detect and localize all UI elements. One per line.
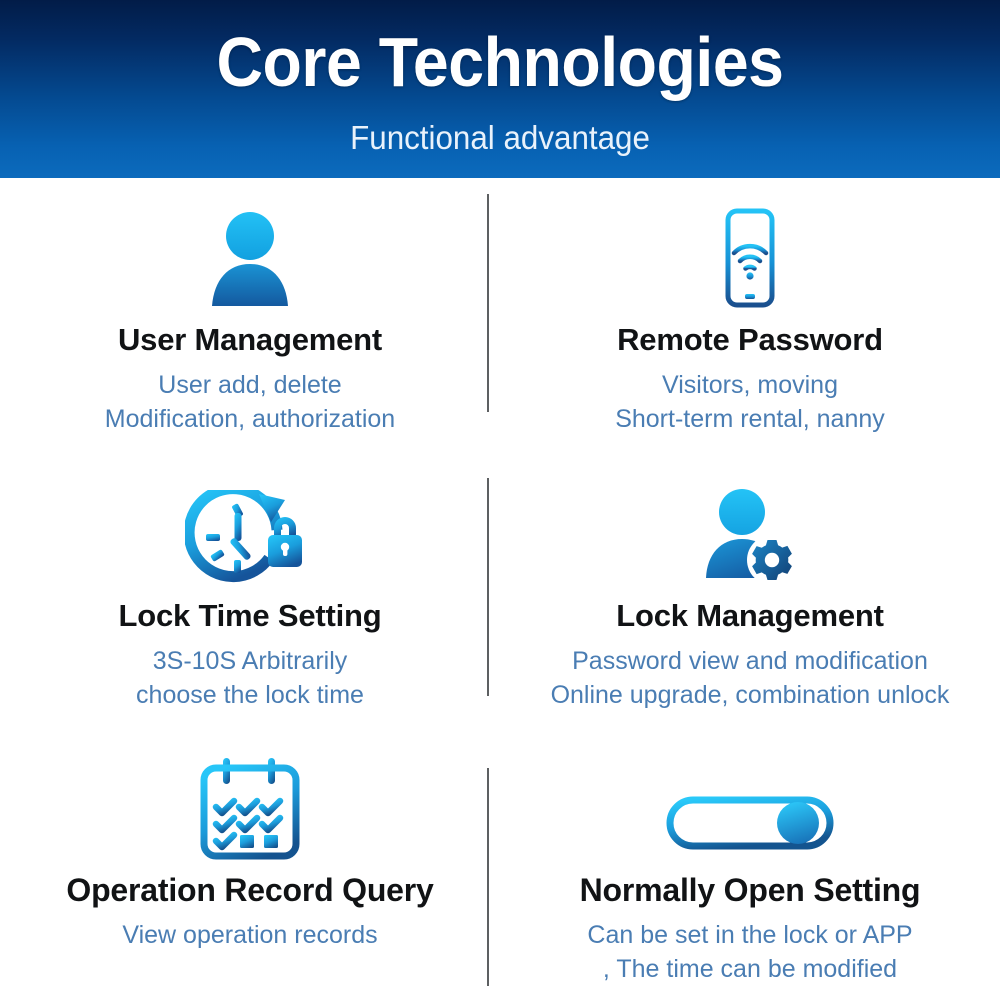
feature-description: Can be set in the lock or APP , The time… <box>587 918 912 986</box>
feature-description-line: 3S-10S Arbitrarily <box>136 644 364 678</box>
feature-card-remote-password: Remote Password Visitors, moving Short-t… <box>500 178 1000 456</box>
feature-grid: User Management User add, delete Modific… <box>0 178 1000 1000</box>
feature-card-lock-time-setting: Lock Time Setting 3S-10S Arbitrarily cho… <box>0 456 500 728</box>
feature-title: Remote Password <box>617 320 883 360</box>
toggle-switch-on-icon[interactable] <box>665 756 835 860</box>
infographic-page: Core Technologies Functional advantage <box>0 0 1000 1000</box>
feature-row: User Management User add, delete Modific… <box>0 178 1000 456</box>
feature-description-line: Password view and modification <box>551 644 950 678</box>
user-gear-icon <box>696 482 804 586</box>
feature-description-line: Online upgrade, combination unlock <box>551 678 950 712</box>
feature-title: User Management <box>118 320 382 360</box>
feature-description-line: Short-term rental, nanny <box>615 402 885 436</box>
feature-description-line: choose the lock time <box>136 678 364 712</box>
feature-title: Lock Management <box>616 596 883 636</box>
feature-description-line: View operation records <box>122 918 377 952</box>
feature-description: Visitors, moving Short-term rental, nann… <box>615 368 885 436</box>
user-icon <box>198 206 302 310</box>
page-header: Core Technologies Functional advantage <box>0 0 1000 178</box>
feature-description-line: User add, delete <box>105 368 395 402</box>
smartphone-wifi-icon <box>702 206 798 310</box>
feature-card-lock-management: Lock Management Password view and modifi… <box>500 456 1000 728</box>
feature-description: View operation records <box>122 918 377 952</box>
feature-description-line: , The time can be modified <box>587 952 912 986</box>
feature-description-line: Modification, authorization <box>105 402 395 436</box>
feature-title: Operation Record Query <box>66 870 433 910</box>
feature-description: Password view and modification Online up… <box>551 644 950 712</box>
feature-title: Lock Time Setting <box>118 596 381 636</box>
feature-card-operation-record-query: Operation Record Query View operation re… <box>0 728 500 1000</box>
page-title: Core Technologies <box>40 20 960 104</box>
feature-description: 3S-10S Arbitrarily choose the lock time <box>136 644 364 712</box>
feature-row: Lock Time Setting 3S-10S Arbitrarily cho… <box>0 456 1000 728</box>
feature-card-user-management: User Management User add, delete Modific… <box>0 178 500 456</box>
calendar-check-icon <box>194 756 306 860</box>
feature-title: Normally Open Setting <box>580 870 921 910</box>
feature-card-normally-open-setting: Normally Open Setting Can be set in the … <box>500 728 1000 1000</box>
feature-description-line: Visitors, moving <box>615 368 885 402</box>
feature-description-line: Can be set in the lock or APP <box>587 918 912 952</box>
page-subtitle: Functional advantage <box>25 118 975 158</box>
feature-description: User add, delete Modification, authoriza… <box>105 368 395 436</box>
clock-lock-icon <box>185 482 315 586</box>
feature-row: Operation Record Query View operation re… <box>0 728 1000 1000</box>
